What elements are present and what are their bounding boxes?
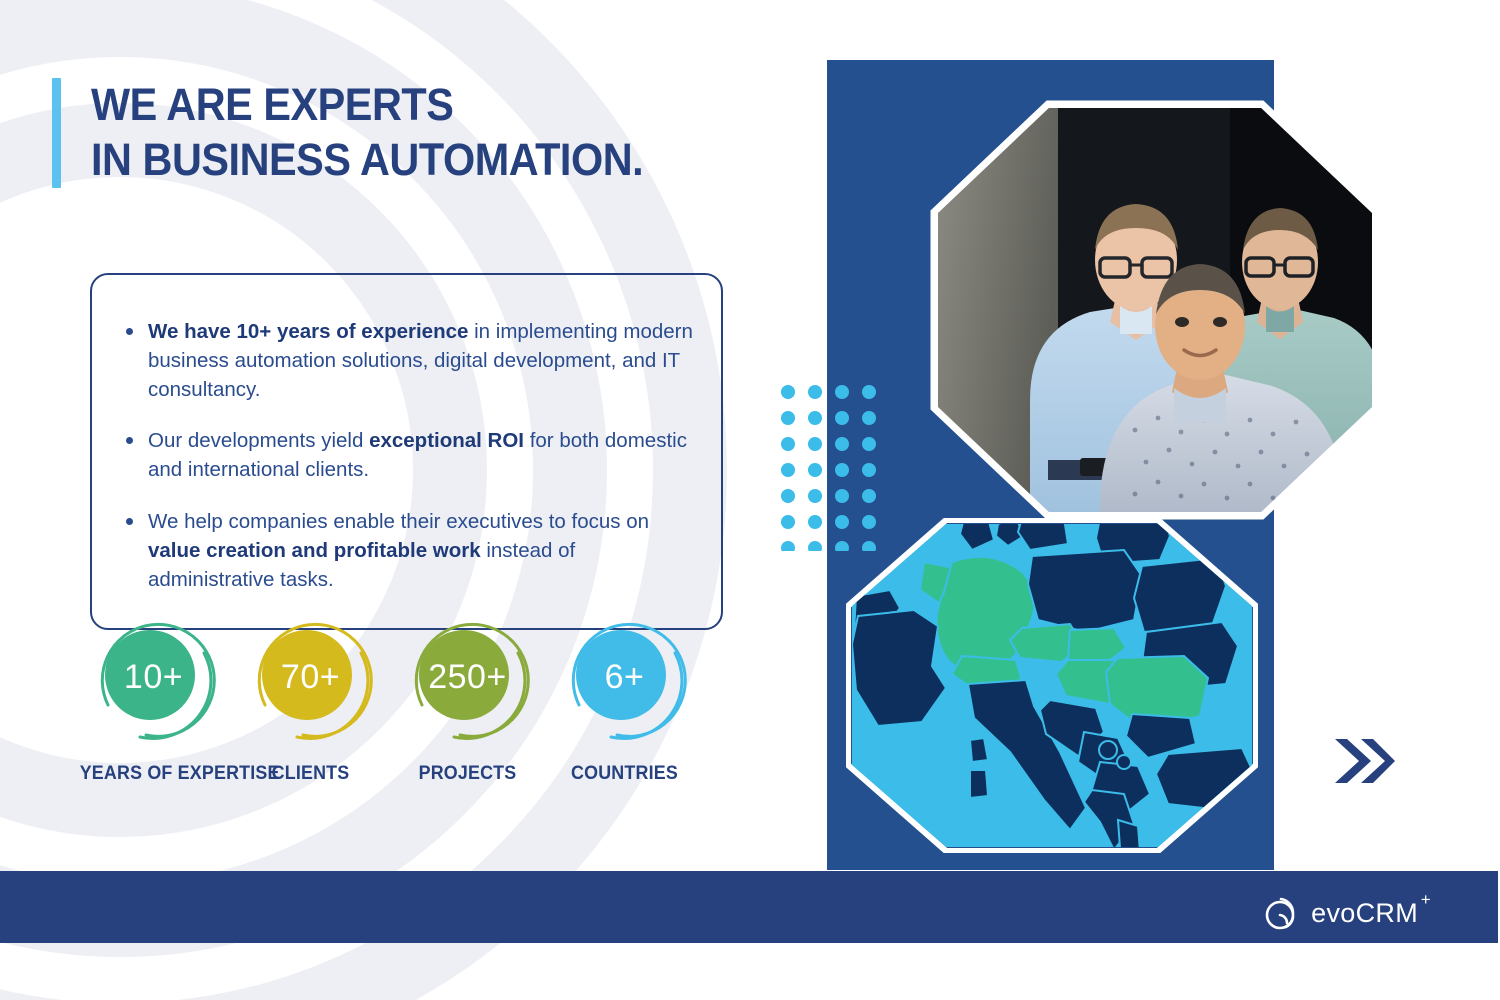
grid-dot xyxy=(808,437,822,451)
stat-item: 70+CLIENTS xyxy=(232,613,389,785)
evocrm-logo: evoCRM+ xyxy=(1263,893,1418,933)
stat-value: 6+ xyxy=(557,613,692,741)
bullet-emphasis: exceptional ROI xyxy=(369,429,524,452)
list-item: Our developments yield exceptional ROI f… xyxy=(114,426,693,484)
grid-dot xyxy=(808,541,822,551)
double-chevron-right-icon[interactable] xyxy=(1333,733,1395,789)
list-item: We have 10+ years of experience in imple… xyxy=(114,317,693,404)
europe-map xyxy=(846,518,1258,853)
grid-dot xyxy=(781,515,795,529)
bullet-emphasis: We have 10+ years of experience xyxy=(148,320,468,343)
logo-wordmark: evoCRM xyxy=(1311,898,1418,928)
highlights-card: We have 10+ years of experience in imple… xyxy=(90,273,723,630)
grid-dot xyxy=(862,489,876,503)
grid-dot xyxy=(862,385,876,399)
grid-dot xyxy=(781,541,795,551)
stat-value: 10+ xyxy=(86,613,221,741)
stat-circle: 250+ xyxy=(400,613,535,741)
grid-dot xyxy=(835,385,849,399)
grid-dot xyxy=(808,411,822,425)
page-title: WE ARE EXPERTS IN BUSINESS AUTOMATION. xyxy=(91,78,643,188)
stat-label: COUNTRIES xyxy=(551,763,699,785)
grid-dot xyxy=(781,385,795,399)
stat-label: YEARS OF EXPERTISE xyxy=(80,763,228,785)
grid-dot xyxy=(835,437,849,451)
stat-label: PROJECTS xyxy=(394,763,542,785)
grid-dot xyxy=(835,489,849,503)
stat-item: 250+PROJECTS xyxy=(389,613,546,785)
grid-dot xyxy=(781,411,795,425)
headline-block: WE ARE EXPERTS IN BUSINESS AUTOMATION. xyxy=(52,78,691,188)
stats-row: 10+YEARS OF EXPERTISE70+CLIENTS250+PROJE… xyxy=(75,613,703,785)
accent-bar xyxy=(52,78,61,188)
stat-value: 250+ xyxy=(400,613,535,741)
stat-circle: 6+ xyxy=(557,613,692,741)
highlights-list: We have 10+ years of experience in imple… xyxy=(114,317,693,594)
slide-root: WE ARE EXPERTS IN BUSINESS AUTOMATION. W… xyxy=(0,0,1500,1000)
grid-dot xyxy=(808,463,822,477)
grid-dot xyxy=(835,463,849,477)
bullet-text: Our developments yield xyxy=(148,429,369,452)
grid-dot xyxy=(781,437,795,451)
grid-dot xyxy=(781,489,795,503)
evocrm-logo-text: evoCRM+ xyxy=(1311,898,1418,929)
bullet-emphasis: value creation and profitable work xyxy=(148,539,481,562)
grid-dot xyxy=(835,411,849,425)
stat-circle: 10+ xyxy=(86,613,221,741)
grid-dot xyxy=(862,463,876,477)
grid-dot xyxy=(808,515,822,529)
grid-dot xyxy=(808,489,822,503)
grid-dot xyxy=(862,437,876,451)
team-photo xyxy=(930,100,1380,520)
stat-circle: 70+ xyxy=(243,613,378,741)
evocrm-logo-mark xyxy=(1263,893,1303,933)
grid-dot xyxy=(862,411,876,425)
grid-dot xyxy=(781,463,795,477)
logo-plus: + xyxy=(1421,890,1431,910)
stat-item: 10+YEARS OF EXPERTISE xyxy=(75,613,232,785)
stat-label: CLIENTS xyxy=(237,763,385,785)
list-item: We help companies enable their executive… xyxy=(114,507,693,594)
bullet-text: We help companies enable their executive… xyxy=(148,510,649,533)
stat-item: 6+COUNTRIES xyxy=(546,613,703,785)
grid-dot xyxy=(808,385,822,399)
stat-value: 70+ xyxy=(243,613,378,741)
